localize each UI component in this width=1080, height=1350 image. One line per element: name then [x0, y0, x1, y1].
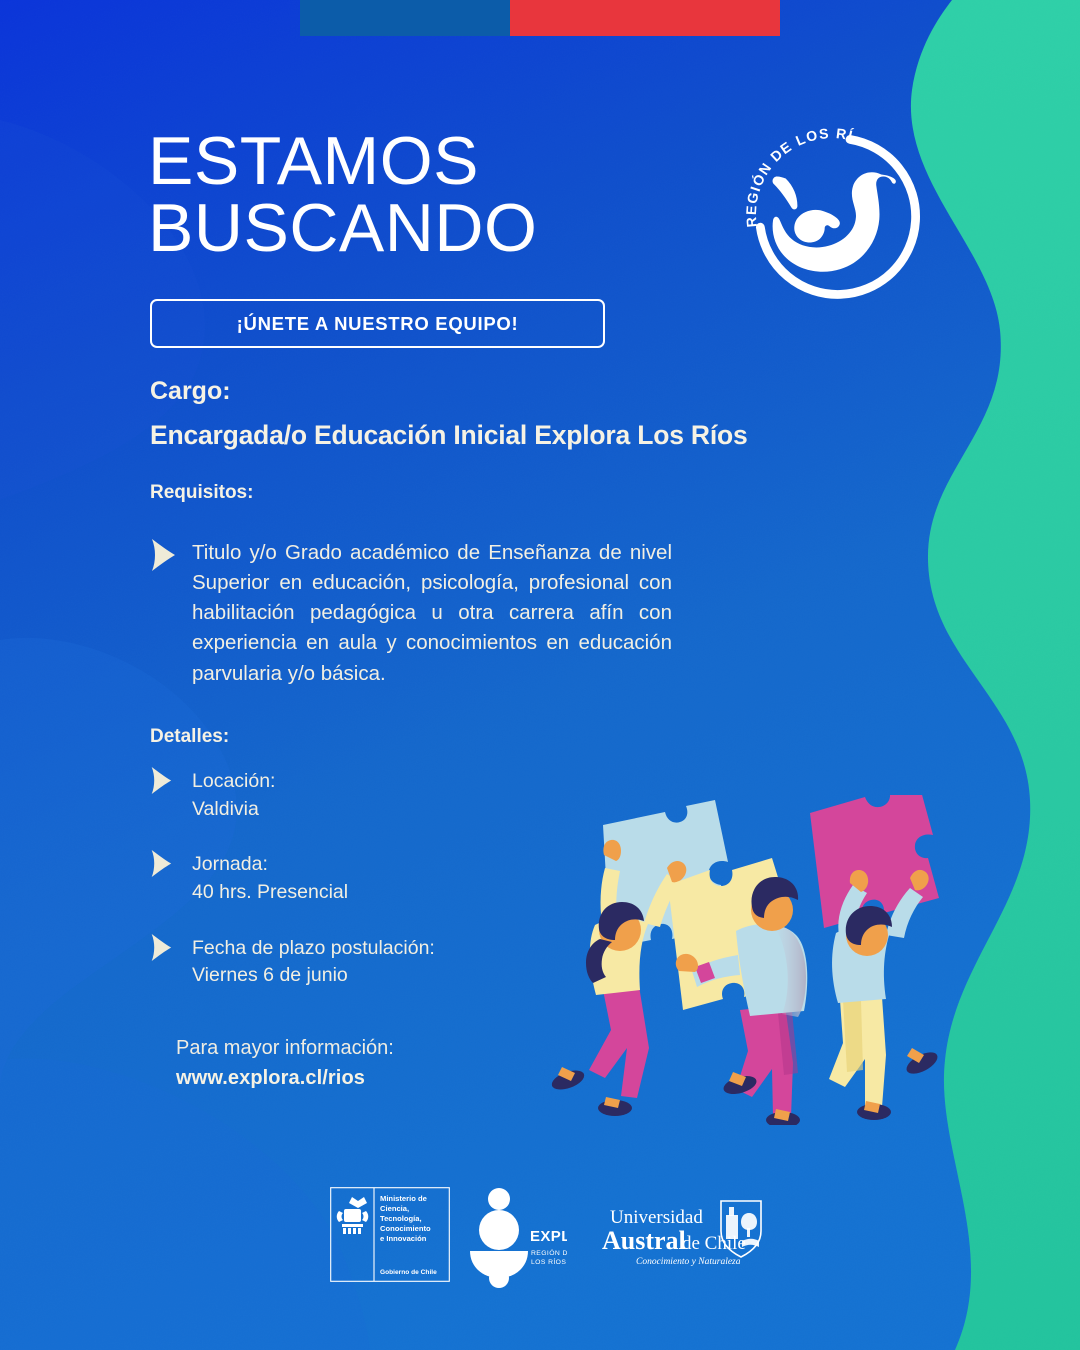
chile-flag-bar [300, 0, 780, 36]
teamwork-puzzle-illustration [540, 795, 970, 1125]
person-right [810, 795, 941, 1120]
detail-key: Locación: [192, 768, 275, 796]
uach-tagline: Conocimiento y Naturaleza [636, 1257, 741, 1267]
region-de-los-rios-badge: REGIÓN DE LOS RÍOS [735, 118, 930, 313]
requisitos-label: Requisitos: [150, 482, 253, 504]
detail-key: Fecha de plazo postulación: [192, 935, 435, 963]
contact-block: Para mayor información: www.explora.cl/r… [176, 1033, 394, 1093]
universidad-austral-de-chile-logo: Universidad Austral de Chile Conocimient… [600, 1197, 775, 1279]
detail-value: 40 hrs. Presencial [192, 879, 348, 907]
swan-icon [773, 172, 896, 272]
poster-root: ESTAMOS BUSCANDO ¡ÚNETE A NUESTRO EQUIPO… [0, 0, 1080, 1350]
badge-ring [760, 139, 915, 294]
ministry-line-1: Ministerio de [380, 1194, 427, 1203]
headline-line-2: BUSCANDO [148, 195, 537, 262]
cargo-label: Cargo: [150, 377, 231, 406]
detail-value: Viernes 6 de junio [192, 962, 435, 990]
requisitos-row: Titulo y/o Grado académico de Enseñanza … [150, 538, 680, 689]
headline-line-1: ESTAMOS [148, 123, 479, 199]
explora-figure-icon [470, 1188, 528, 1288]
footer-logos: Ministerio de Ciencia, Tecnología, Conoc… [0, 1185, 1080, 1295]
ministry-line-2: Ciencia, [380, 1204, 409, 1213]
arrow-bullet-icon [150, 766, 172, 795]
cargo-title: Encargada/o Educación Inicial Explora Lo… [150, 420, 748, 451]
uach-austral: Austral [602, 1226, 686, 1255]
list-item: Jornada: 40 hrs. Presencial [150, 849, 570, 906]
explora-region-line-2: LOS RÍOS [531, 1257, 566, 1266]
detalles-label: Detalles: [150, 726, 229, 748]
contact-intro: Para mayor información: [176, 1037, 394, 1059]
flag-red-segment [510, 0, 780, 36]
arrow-bullet-icon [150, 933, 172, 962]
explora-region-line-1: REGIÓN DE [531, 1248, 567, 1257]
ministry-govt-label: Gobierno de Chile [380, 1269, 437, 1276]
arrow-bullet-icon [150, 538, 176, 572]
join-team-badge[interactable]: ¡ÚNETE A NUESTRO EQUIPO! [150, 299, 605, 348]
explora-wordmark: EXPLORA [530, 1228, 567, 1245]
person-middle [668, 858, 807, 1125]
detail-key: Jornada: [192, 851, 348, 879]
ministry-line-4: Conocimiento [380, 1224, 431, 1233]
requisitos-text: Titulo y/o Grado académico de Enseñanza … [192, 538, 672, 689]
list-item: Locación: Valdivia [150, 766, 570, 823]
explora-logo: EXPLORA REGIÓN DE LOS RÍOS [462, 1185, 567, 1288]
flag-blue-segment [300, 0, 510, 36]
arrow-bullet-icon [150, 849, 172, 878]
detalles-list: Locación: Valdivia Jornada: 40 hrs. Pres… [150, 766, 570, 1016]
ministerio-de-ciencia-logo: Ministerio de Ciencia, Tecnología, Conoc… [330, 1187, 450, 1282]
website-url[interactable]: www.explora.cl/rios [176, 1063, 394, 1093]
detail-value: Valdivia [192, 796, 275, 824]
chile-coat-of-arms-icon [337, 1197, 369, 1234]
uach-line-1: Universidad [610, 1207, 703, 1228]
page-title: ESTAMOS BUSCANDO [148, 128, 537, 261]
join-team-label: ¡ÚNETE A NUESTRO EQUIPO! [237, 313, 519, 335]
ministry-line-3: Tecnología, [380, 1214, 422, 1223]
ministry-line-5: e Innovación [380, 1234, 427, 1243]
list-item: Fecha de plazo postulación: Viernes 6 de… [150, 933, 570, 990]
badge-arc-text: REGIÓN DE LOS RÍOS [735, 118, 855, 228]
